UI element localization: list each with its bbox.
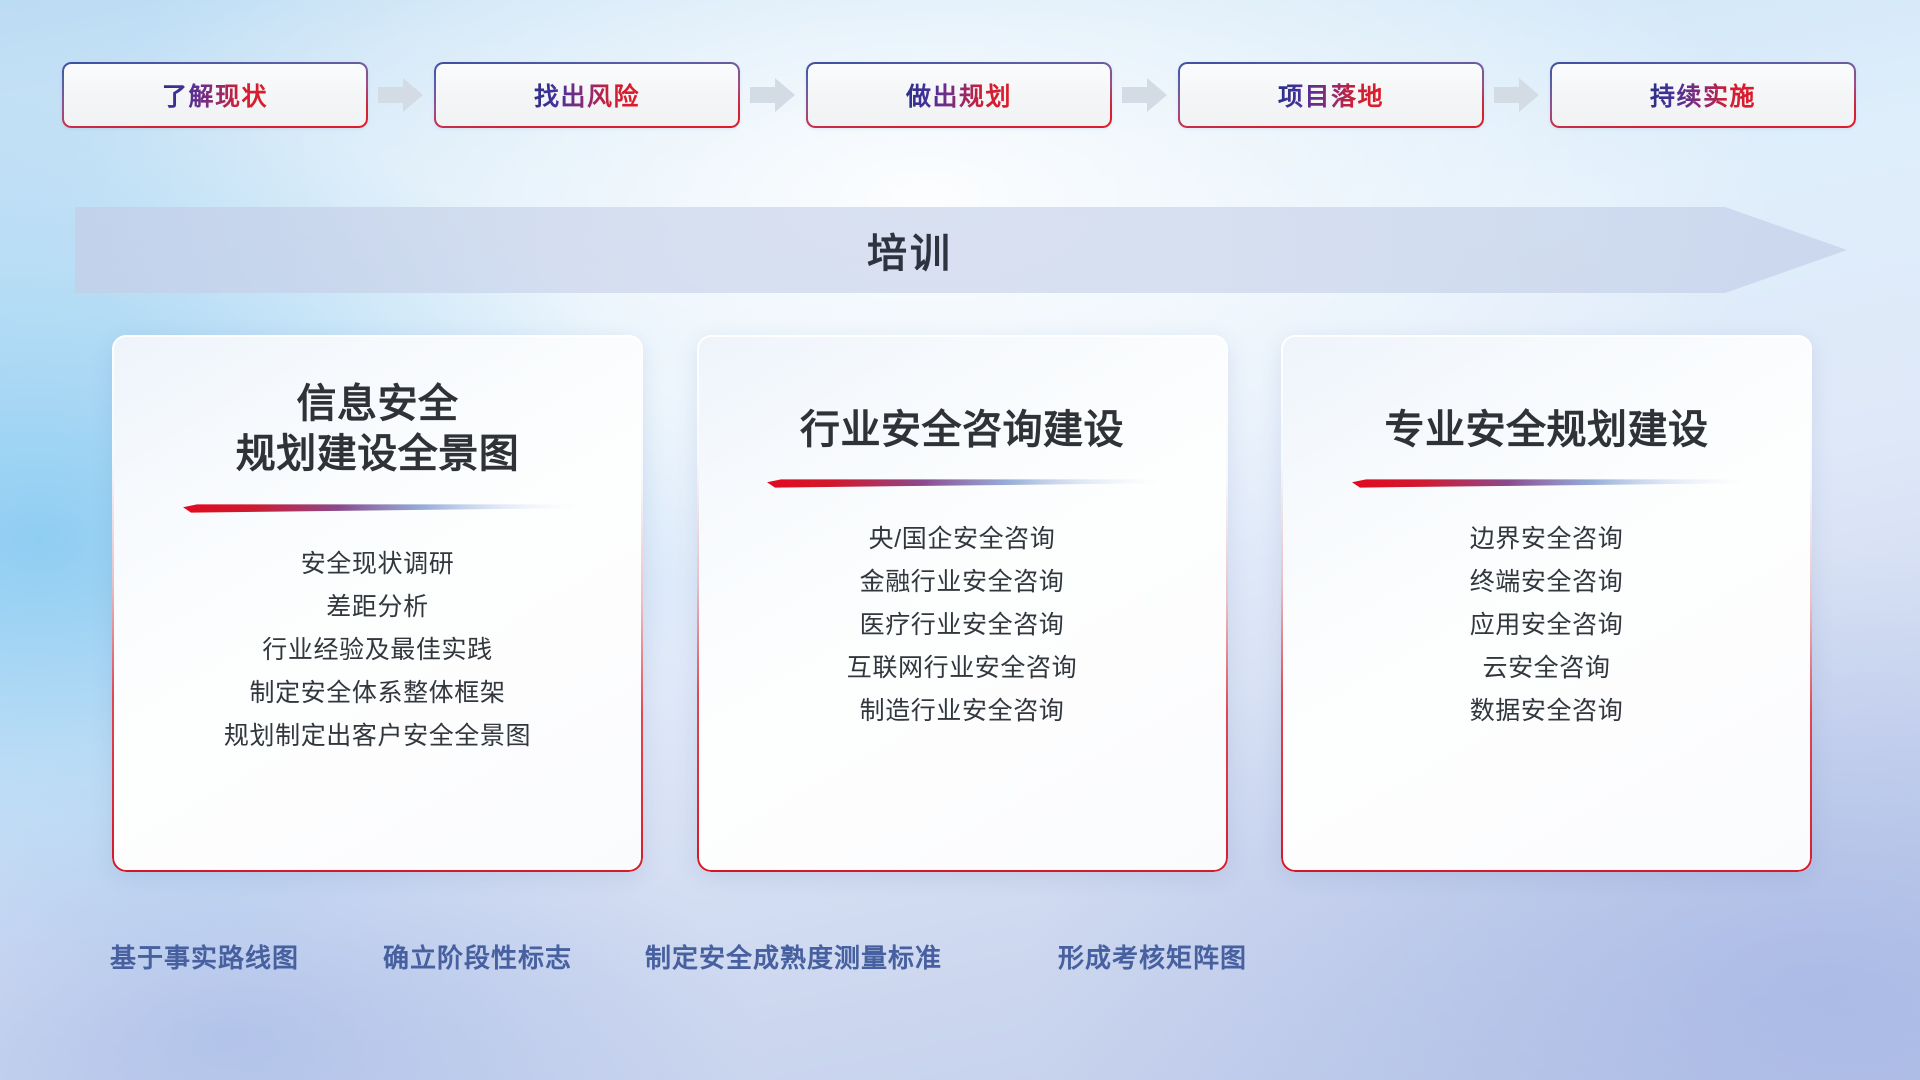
banner-title: 培训 bbox=[75, 207, 1745, 293]
process-step-5[interactable]: 持续实施 bbox=[1550, 62, 1856, 128]
card-title: 行业安全咨询建设 bbox=[800, 335, 1124, 455]
process-step-3[interactable]: 做出规划 bbox=[806, 62, 1112, 128]
list-item: 制定安全体系整体框架 bbox=[138, 672, 617, 715]
process-step-1[interactable]: 了解现状 bbox=[62, 62, 368, 128]
process-step-label: 项目落地 bbox=[1278, 77, 1384, 113]
card-divider bbox=[183, 504, 573, 513]
arrow-right-icon bbox=[740, 75, 806, 115]
card-item-list: 边界安全咨询 终端安全咨询 应用安全咨询 云安全咨询 数据安全咨询 bbox=[1307, 518, 1786, 733]
arrow-right-icon bbox=[1112, 75, 1178, 115]
slide-canvas: 了解现状 找出风险 做出规划 项目落地 持续实施 bbox=[0, 0, 1920, 1080]
process-step-label: 了解现状 bbox=[162, 77, 268, 113]
card-divider bbox=[767, 479, 1157, 488]
list-item: 数据安全咨询 bbox=[1307, 690, 1786, 733]
list-item: 云安全咨询 bbox=[1307, 647, 1786, 690]
bottom-label: 确立阶段性标志 bbox=[383, 938, 572, 975]
card-info-security-panorama[interactable]: 信息安全 规划建设全景图 bbox=[112, 335, 643, 872]
list-item: 规划制定出客户安全全景图 bbox=[138, 715, 617, 758]
card-industry-security-consulting[interactable]: 行业安全咨询建设 bbox=[697, 335, 1228, 872]
bottom-label: 制定安全成熟度测量标准 bbox=[645, 938, 942, 975]
list-item: 制造行业安全咨询 bbox=[723, 690, 1202, 733]
process-step-label: 找出风险 bbox=[534, 77, 640, 113]
list-item: 差距分析 bbox=[138, 586, 617, 629]
list-item: 终端安全咨询 bbox=[1307, 561, 1786, 604]
process-step-label: 做出规划 bbox=[906, 77, 1012, 113]
card-title: 信息安全 规划建设全景图 bbox=[236, 335, 520, 480]
list-item: 边界安全咨询 bbox=[1307, 518, 1786, 561]
process-step-row: 了解现状 找出风险 做出规划 项目落地 持续实施 bbox=[62, 62, 1858, 128]
list-item: 金融行业安全咨询 bbox=[723, 561, 1202, 604]
process-step-4[interactable]: 项目落地 bbox=[1178, 62, 1484, 128]
card-item-list: 央/国企安全咨询 金融行业安全咨询 医疗行业安全咨询 互联网行业安全咨询 制造行… bbox=[723, 518, 1202, 733]
list-item: 行业经验及最佳实践 bbox=[138, 629, 617, 672]
list-item: 医疗行业安全咨询 bbox=[723, 604, 1202, 647]
list-item: 央/国企安全咨询 bbox=[723, 518, 1202, 561]
training-banner: 培训 bbox=[75, 207, 1847, 293]
card-row: 信息安全 规划建设全景图 bbox=[112, 335, 1812, 872]
arrow-right-icon bbox=[368, 75, 434, 115]
bottom-label: 基于事实路线图 bbox=[110, 938, 299, 975]
list-item: 应用安全咨询 bbox=[1307, 604, 1786, 647]
list-item: 互联网行业安全咨询 bbox=[723, 647, 1202, 690]
bottom-label: 形成考核矩阵图 bbox=[1058, 938, 1247, 975]
process-step-2[interactable]: 找出风险 bbox=[434, 62, 740, 128]
card-professional-security-planning[interactable]: 专业安全规划建设 bbox=[1281, 335, 1812, 872]
list-item: 安全现状调研 bbox=[138, 543, 617, 586]
process-step-label: 持续实施 bbox=[1650, 77, 1756, 113]
card-divider bbox=[1352, 479, 1742, 488]
arrow-right-icon bbox=[1484, 75, 1550, 115]
card-title: 专业安全规划建设 bbox=[1385, 335, 1709, 455]
card-item-list: 安全现状调研 差距分析 行业经验及最佳实践 制定安全体系整体框架 规划制定出客户… bbox=[138, 543, 617, 758]
bottom-label-row: 基于事实路线图 确立阶段性标志 制定安全成熟度测量标准 形成考核矩阵图 bbox=[0, 938, 1920, 980]
